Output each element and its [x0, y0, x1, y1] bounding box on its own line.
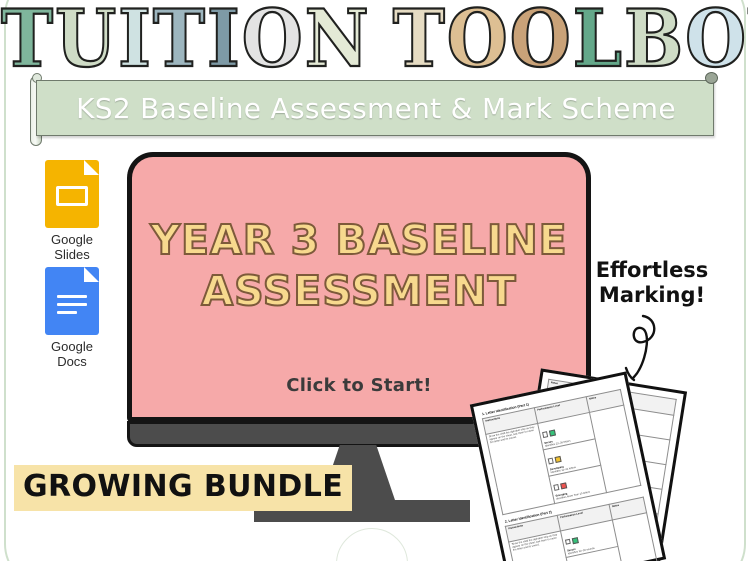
growing-bundle-badge: GROWING BUNDLE — [14, 465, 352, 511]
monitor-screen[interactable]: YEAR 3 BASELINE ASSESSMENT Click to Star… — [127, 152, 591, 422]
sheet-front-content: 1. Letter Identification (Part 1) Instru… — [480, 382, 655, 561]
title-letter-n-6: N — [304, 0, 370, 80]
subtitle-text: KS2 Baseline Assessment & Mark Scheme — [37, 81, 715, 137]
logo-watermark — [336, 528, 408, 561]
app-label-line1: Google — [51, 232, 93, 247]
app-badge-google-slides[interactable]: Google Slides — [30, 160, 114, 262]
subtitle-banner: KS2 Baseline Assessment & Mark Scheme — [36, 80, 714, 136]
title-letter-o-8: O — [446, 0, 509, 80]
column-header: Notes — [612, 499, 642, 508]
title-letter-t-7: T — [392, 0, 446, 80]
effortless-line2: Marking! — [599, 283, 705, 307]
slide-title-line2: ASSESSMENT — [201, 267, 516, 315]
click-to-start-label[interactable]: Click to Start! — [132, 375, 586, 396]
docs-line-1 — [57, 295, 87, 298]
checkbox[interactable] — [553, 484, 560, 491]
slide-title: YEAR 3 BASELINE ASSESSMENT — [132, 215, 586, 317]
level-chip-developing — [554, 456, 561, 463]
title-letter-i-2: I — [117, 0, 152, 80]
column-header: Notes — [589, 391, 619, 400]
poster-title: TUITIONTOOLBOX — [0, 2, 748, 78]
effortless-marking-callout: Effortless Marking! — [593, 258, 711, 308]
checkbox[interactable] — [542, 431, 549, 438]
checkbox[interactable] — [565, 538, 572, 545]
app-label-google-docs: Google Docs — [30, 339, 114, 369]
effortless-line1: Effortless — [596, 258, 709, 282]
app-label-google-slides: Google Slides — [30, 232, 114, 262]
docs-line-3 — [57, 311, 77, 314]
level-chip-secure — [572, 537, 579, 544]
title-letter-t-0: T — [0, 0, 54, 80]
poster-canvas: TUITIONTOOLBOX KS2 Baseline Assessment &… — [0, 0, 748, 561]
title-letter-o-5: O — [241, 0, 304, 80]
checkbox[interactable] — [548, 458, 555, 465]
title-letter-l-10: L — [572, 0, 623, 80]
title-letter-t-3: T — [152, 0, 206, 80]
app-label-line1: Google — [51, 339, 93, 354]
level-chip-secure — [549, 430, 556, 437]
slide-title-line1: YEAR 3 BASELINE — [150, 216, 567, 264]
docs-line-2 — [57, 303, 87, 306]
title-letter-b-11: B — [623, 0, 684, 80]
google-slides-icon — [45, 160, 99, 228]
level-chip-emerging — [560, 483, 567, 490]
title-letter-u-1: U — [54, 0, 117, 80]
app-badge-google-docs[interactable]: Google Docs — [30, 267, 114, 369]
google-docs-icon — [45, 267, 99, 335]
title-letter-o-12: O — [684, 0, 747, 80]
app-label-line2: Slides — [54, 247, 89, 262]
app-label-line2: Docs — [57, 354, 87, 369]
title-letter-i-4: I — [206, 0, 241, 80]
slides-frame-shape — [56, 186, 88, 206]
title-letter-o-9: O — [509, 0, 572, 80]
scroll-curl-right-icon — [705, 72, 718, 84]
